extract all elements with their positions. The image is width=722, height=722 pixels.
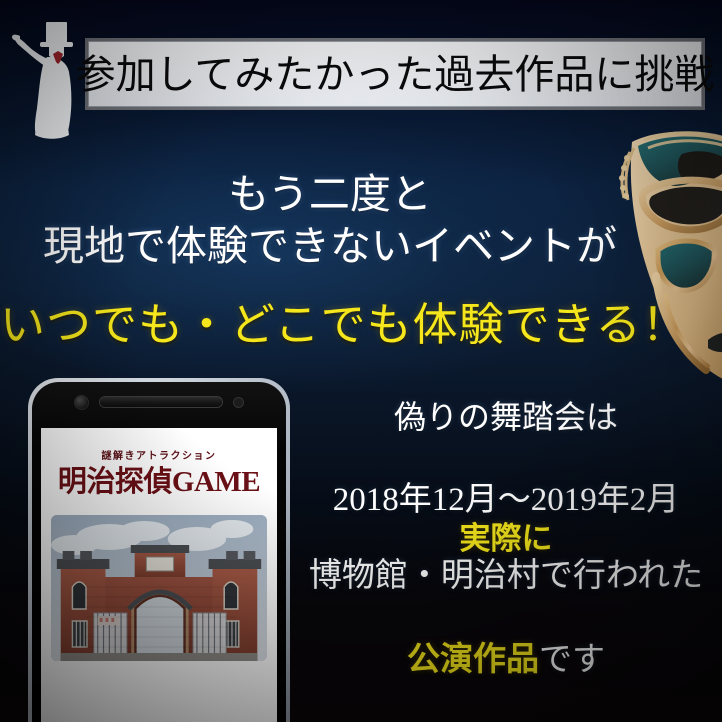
right-copy-line-1: 偽りの舞踏会は — [296, 400, 716, 435]
right-copy-closing-accent: 公演作品 — [407, 642, 539, 678]
phone-screen[interactable]: 謎解きアトラクション 明治探偵GAME — [41, 428, 277, 722]
event-venue: 博物館・明治村で行われた — [296, 557, 716, 597]
smartphone-mockup: 謎解きアトラクション 明治探偵GAME — [28, 378, 290, 722]
phone-body: 謎解きアトラクション 明治探偵GAME — [32, 382, 286, 722]
headline-line-2: 現地で体験できないイベントが — [0, 220, 660, 272]
right-copy-closing-tail: です — [539, 642, 605, 678]
headline-copy: もう二度と 現地で体験できないイベントが — [0, 168, 660, 273]
proximity-sensor-icon — [234, 398, 243, 407]
phone-top-bezel — [32, 382, 286, 422]
front-camera-icon — [75, 396, 88, 409]
right-copy-block: 2018年12月〜2019年2月 実際に 博物館・明治村で行われた — [296, 481, 716, 597]
right-copy-column: 偽りの舞踏会は 2018年12月〜2019年2月 実際に 博物館・明治村で行われ… — [296, 400, 716, 681]
headline-line-1: もう二度と — [0, 168, 660, 220]
app-logo-title: 明治探偵GAME — [41, 467, 277, 497]
event-date-range: 2018年12月〜2019年2月 — [296, 481, 716, 520]
headline-banner: 参加してみたかった過去作品に挑戦 — [85, 38, 705, 110]
earpiece-speaker-icon — [100, 397, 222, 407]
app-logo-subtitle: 謎解きアトラクション — [41, 452, 277, 462]
headline-banner-inner: 参加してみたかった過去作品に挑戦 — [88, 41, 702, 107]
headline-highlight: いつでも・どこでも体験できる！ — [0, 298, 660, 352]
app-logo: 謎解きアトラクション 明治探偵GAME — [41, 428, 277, 497]
right-copy-accent: 実際に — [296, 520, 716, 557]
right-copy-closing: 公演作品です — [296, 641, 716, 681]
meijimura-gate-photo — [51, 515, 267, 661]
headline-banner-text: 参加してみたかった過去作品に挑戦 — [76, 55, 715, 95]
promo-poster: 参加してみたかった過去作品に挑戦 — [0, 0, 722, 722]
